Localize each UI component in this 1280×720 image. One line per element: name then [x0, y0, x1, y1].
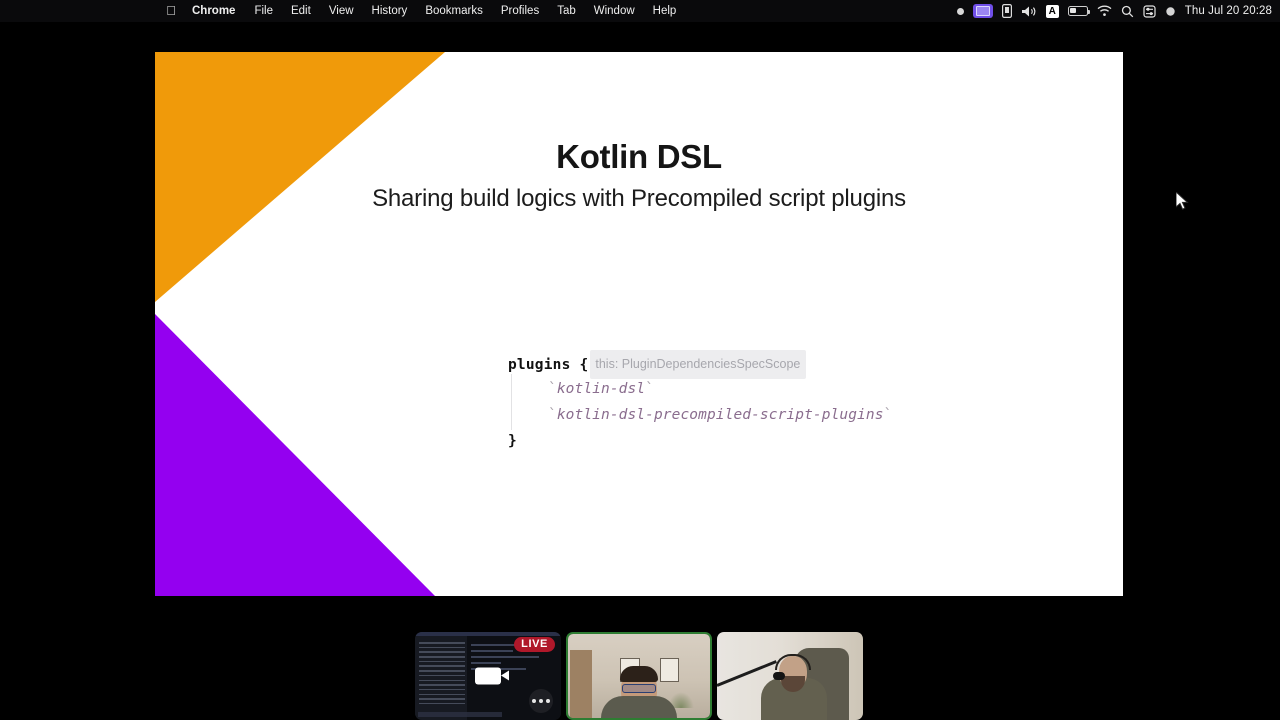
code-closing-brace: } [508, 433, 517, 449]
backtick-close-icon: ` [645, 381, 654, 397]
menu-profiles[interactable]: Profiles [492, 0, 548, 22]
menu-bookmarks[interactable]: Bookmarks [416, 0, 492, 22]
purple-triangle-decoration [155, 314, 445, 596]
backtick-open-icon: ` [548, 381, 557, 397]
control-center-icon[interactable] [1143, 0, 1156, 22]
menu-bar-clock[interactable]: Thu Jul 20 20:28 [1185, 5, 1272, 17]
menu-edit[interactable]: Edit [282, 0, 320, 22]
more-options-icon[interactable] [529, 689, 553, 713]
ide-sidebar-lines [419, 642, 465, 712]
wifi-icon[interactable] [1097, 0, 1112, 22]
inlay-hint-receiver: this: PluginDependenciesSpecScope [590, 350, 806, 379]
screen-share-icon[interactable] [973, 0, 993, 22]
menu-history[interactable]: History [363, 0, 417, 22]
slide-subtitle: Sharing build logics with Precompiled sc… [155, 185, 1123, 213]
code-line-2: `kotlin-dsl` [508, 376, 892, 402]
participant-1-body [601, 696, 677, 718]
menu-bar-status-items: A [957, 0, 1272, 22]
recording-indicator-icon[interactable] [957, 0, 964, 22]
shared-slide: Kotlin DSL Sharing build logics with Pre… [155, 52, 1123, 596]
backtick-close-icon-2: ` [884, 407, 893, 423]
background-door [570, 650, 592, 720]
input-source-label: A [1046, 5, 1059, 18]
plugin-id-2-text: kotlin-dsl-precompiled-script-plugins [557, 407, 884, 423]
mouse-pointer [1176, 192, 1189, 211]
participant-1-hair [620, 666, 658, 682]
orange-triangle-decoration [155, 52, 445, 302]
live-badge: LIVE [514, 637, 555, 652]
menu-window[interactable]: Window [585, 0, 644, 22]
search-icon[interactable] [1121, 0, 1134, 22]
code-keyword-plugins: plugins { [508, 357, 588, 373]
code-line-1: plugins {this: PluginDependenciesSpecSco… [508, 350, 892, 376]
background-picture-frame-2 [660, 658, 679, 682]
microphone-icon [773, 672, 785, 680]
display-icon[interactable] [1002, 0, 1012, 22]
code-line-3: `kotlin-dsl-precompiled-script-plugins` [508, 402, 892, 428]
macos-menu-bar:  Chrome File Edit View History Bookmark… [0, 0, 1280, 22]
camera-icon[interactable] [475, 668, 501, 685]
plugin-id-precompiled: `kotlin-dsl-precompiled-script-plugins` [548, 407, 892, 423]
volume-icon[interactable] [1021, 0, 1037, 22]
plugin-id-kotlin-dsl: `kotlin-dsl` [548, 381, 654, 397]
menu-bar-app-menus:  Chrome File Edit View History Bookmark… [160, 0, 685, 22]
backtick-open-icon-2: ` [548, 407, 557, 423]
video-thumbnail-strip: LIVE [415, 632, 863, 720]
input-source-icon[interactable]: A [1046, 0, 1059, 22]
menu-help[interactable]: Help [644, 0, 686, 22]
participant-tile-1[interactable] [566, 632, 712, 720]
screen-share-tile[interactable]: LIVE [415, 632, 561, 720]
siri-icon[interactable] [1165, 0, 1176, 22]
participant-tile-2[interactable] [717, 632, 863, 720]
menu-chrome[interactable]: Chrome [182, 0, 245, 22]
code-line-4: } [508, 428, 892, 454]
menu-view[interactable]: View [320, 0, 363, 22]
code-snippet: plugins {this: PluginDependenciesSpecSco… [508, 350, 892, 454]
participant-1-glasses [622, 684, 656, 693]
menu-file[interactable]: File [245, 0, 282, 22]
battery-icon[interactable] [1068, 0, 1088, 22]
screen-root:  Chrome File Edit View History Bookmark… [0, 0, 1280, 720]
menu-tab[interactable]: Tab [548, 0, 585, 22]
apple-logo-icon[interactable]:  [160, 0, 182, 22]
plugin-id-1-text: kotlin-dsl [557, 381, 645, 397]
slide-title: Kotlin DSL [155, 138, 1123, 176]
ide-status-bar [418, 712, 558, 717]
